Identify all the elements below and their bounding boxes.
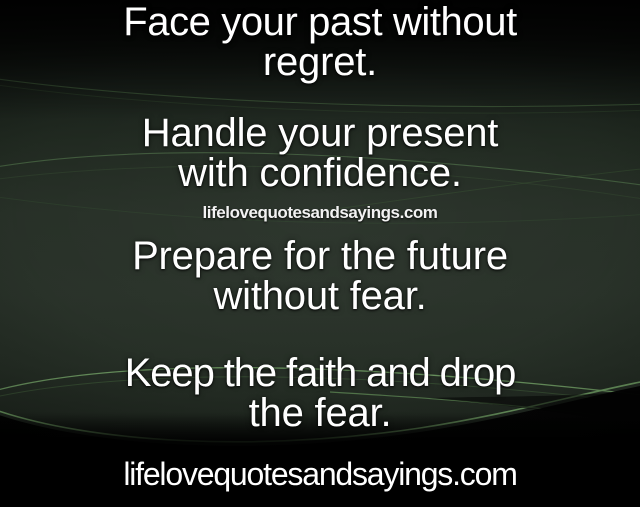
quote-line: regret. [0,42,640,82]
quote-line: the fear. [0,393,640,433]
quote-line: Handle your present [0,113,640,153]
quote-line: Prepare for the future [0,236,640,276]
quote-line: with confidence. [0,153,640,193]
quote-poster: Face your past without regret. Handle yo… [0,0,640,507]
quote-stanza-3: Prepare for the future without fear. [0,236,640,316]
quote-line: Face your past without [0,2,640,42]
watermark-middle: lifelovequotesandsayings.com [0,203,640,223]
quote-stanza-4: Keep the faith and drop the fear. [0,353,640,433]
quote-line: without fear. [0,276,640,316]
watermark-footer: lifelovequotesandsayings.com [0,456,640,493]
quote-stanza-2: Handle your present with confidence. [0,113,640,193]
quote-line: Keep the faith and drop [0,353,640,393]
quote-stanza-1: Face your past without regret. [0,2,640,82]
